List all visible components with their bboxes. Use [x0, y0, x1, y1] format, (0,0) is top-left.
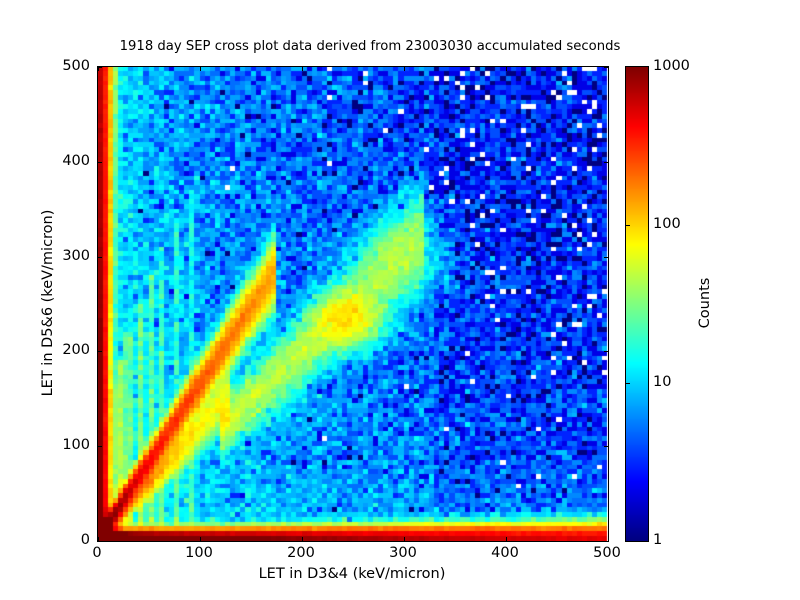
y-tick-right-100 — [604, 446, 608, 447]
y-tick-200 — [98, 351, 102, 352]
y-tick-label-0: 0 — [35, 532, 90, 548]
x-tick-300 — [404, 537, 405, 541]
scatter-density-plot — [98, 67, 608, 541]
plot-axes — [97, 66, 609, 542]
x-tick-400 — [506, 537, 507, 541]
y-tick-0 — [98, 541, 102, 542]
x-tick-label-200: 200 — [287, 545, 315, 561]
colorbar-tick-label-1000: 1000 — [653, 58, 690, 74]
y-tick-400 — [98, 162, 102, 163]
y-tick-label-500: 500 — [35, 58, 90, 74]
colorbar-axis-label-text: Counts — [697, 278, 713, 329]
colorbar-tick-label-10: 10 — [653, 374, 671, 390]
y-tick-right-200 — [604, 351, 608, 352]
x-axis-label: LET in D3&4 (keV/micron) — [97, 566, 607, 582]
colorbar-gradient — [626, 67, 648, 541]
y-tick-right-300 — [604, 257, 608, 258]
figure-canvas: 1918 day SEP cross plot data derived fro… — [0, 0, 800, 600]
x-tick-200 — [302, 537, 303, 541]
y-tick-500 — [98, 67, 102, 68]
x-tick-label-0: 0 — [92, 545, 101, 561]
colorbar-tick-10 — [626, 383, 630, 384]
x-tick-top-500 — [608, 67, 609, 71]
x-tick-label-100: 100 — [185, 545, 213, 561]
x-tick-top-200 — [302, 67, 303, 71]
x-tick-100 — [200, 537, 201, 541]
colorbar-tick-100 — [626, 225, 630, 226]
y-tick-right-0 — [604, 541, 608, 542]
x-tick-label-400: 400 — [491, 545, 519, 561]
y-tick-right-500 — [604, 67, 608, 68]
y-tick-100 — [98, 446, 102, 447]
colorbar-tick-label-1: 1 — [653, 532, 662, 548]
plot-title-line-1: 1918 day SEP cross plot data derived fro… — [0, 39, 740, 56]
y-axis-label-text: LET in D5&6 (keV/micron) — [40, 210, 56, 397]
x-tick-top-300 — [404, 67, 405, 71]
y-tick-label-400: 400 — [35, 153, 90, 169]
y-tick-300 — [98, 257, 102, 258]
y-tick-right-400 — [604, 162, 608, 163]
x-tick-top-400 — [506, 67, 507, 71]
x-tick-label-300: 300 — [389, 545, 417, 561]
x-tick-label-500: 500 — [593, 545, 621, 561]
y-tick-label-100: 100 — [35, 437, 90, 453]
x-tick-500 — [608, 537, 609, 541]
colorbar-tick-label-100: 100 — [653, 216, 681, 232]
colorbar — [625, 66, 649, 542]
x-tick-top-100 — [200, 67, 201, 71]
